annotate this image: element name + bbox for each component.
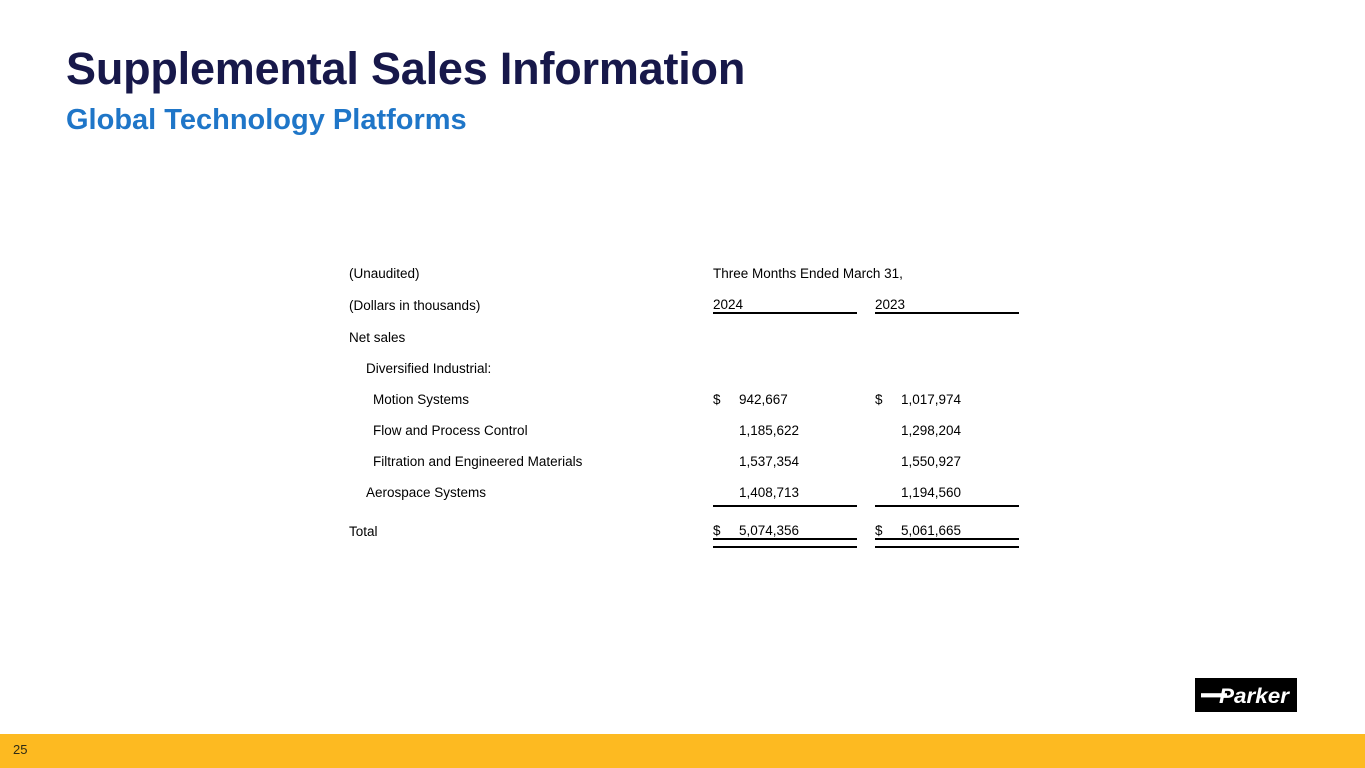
parker-wordmark-icon: Parker <box>1195 678 1297 712</box>
row-label: Motion Systems <box>349 376 713 407</box>
total-currency-symbol-2023: $ <box>875 506 901 539</box>
column-header-2024: 2024 <box>713 281 857 313</box>
note-units: (Dollars in thousands) <box>349 281 713 313</box>
supplemental-sales-table: (Unaudited) Three Months Ended March 31,… <box>349 250 1019 548</box>
period-header: Three Months Ended March 31, <box>713 250 1019 281</box>
title-block: Supplemental Sales Information Global Te… <box>66 42 1066 138</box>
column-gap <box>857 469 875 500</box>
slide-canvas: Supplemental Sales Information Global Te… <box>0 0 1365 768</box>
column-gap <box>857 376 875 407</box>
currency-symbol-2024 <box>713 407 739 438</box>
column-header-2023: 2023 <box>875 281 1019 313</box>
value-2023: 1,550,927 <box>901 438 1019 469</box>
total-value-2023: 5,061,665 <box>901 506 1019 539</box>
value-2024: 1,537,354 <box>739 438 857 469</box>
value-2024: 942,667 <box>739 376 857 407</box>
table-row-total: Total $ 5,074,356 $ 5,061,665 <box>349 506 1019 539</box>
total-double-rule-2024 <box>713 539 857 547</box>
empty-cell <box>349 539 713 547</box>
group-label-diversified-industrial: Diversified Industrial: <box>349 345 713 376</box>
value-2023: 1,017,974 <box>901 376 1019 407</box>
svg-text:Parker: Parker <box>1219 685 1291 708</box>
parker-logo: Parker <box>1195 678 1297 712</box>
currency-symbol-2023 <box>875 407 901 438</box>
table-header-row-years: (Dollars in thousands) 2024 2023 <box>349 281 1019 313</box>
table-row-group: Diversified Industrial: <box>349 345 1019 376</box>
table-row: Motion Systems $ 942,667 $ 1,017,974 <box>349 376 1019 407</box>
table-row: Filtration and Engineered Materials 1,53… <box>349 438 1019 469</box>
currency-symbol-2023: $ <box>875 376 901 407</box>
currency-symbol-2023 <box>875 438 901 469</box>
value-2024: 1,185,622 <box>739 407 857 438</box>
financial-table-container: (Unaudited) Three Months Ended March 31,… <box>349 250 1019 548</box>
currency-symbol-2023 <box>875 469 901 500</box>
column-gap <box>857 281 875 313</box>
empty-cell <box>857 313 875 345</box>
empty-cell <box>713 345 739 376</box>
value-2024: 1,408,713 <box>739 469 857 500</box>
footer-bar: 25 <box>0 734 1365 768</box>
total-double-rule-row <box>349 539 1019 547</box>
section-label-net-sales: Net sales <box>349 313 713 345</box>
currency-symbol-2024 <box>713 469 739 500</box>
empty-cell <box>739 313 857 345</box>
column-gap <box>857 506 875 539</box>
empty-cell <box>739 345 857 376</box>
column-gap <box>857 438 875 469</box>
table-header-row-period: (Unaudited) Three Months Ended March 31, <box>349 250 1019 281</box>
row-label: Aerospace Systems <box>349 469 713 500</box>
value-2023: 1,194,560 <box>901 469 1019 500</box>
table-row: Flow and Process Control 1,185,622 1,298… <box>349 407 1019 438</box>
empty-cell <box>901 313 1019 345</box>
empty-cell <box>875 345 901 376</box>
row-label: Filtration and Engineered Materials <box>349 438 713 469</box>
currency-symbol-2024: $ <box>713 376 739 407</box>
value-2023: 1,298,204 <box>901 407 1019 438</box>
total-currency-symbol-2024: $ <box>713 506 739 539</box>
empty-cell <box>857 345 875 376</box>
parker-logo-inner: Parker <box>1195 678 1297 712</box>
column-gap <box>857 539 875 547</box>
empty-cell <box>901 345 1019 376</box>
empty-cell <box>713 313 739 345</box>
note-unaudited: (Unaudited) <box>349 250 713 281</box>
page-subtitle: Global Technology Platforms <box>66 102 1066 138</box>
total-label: Total <box>349 506 713 539</box>
table-row: Aerospace Systems 1,408,713 1,194,560 <box>349 469 1019 500</box>
column-gap <box>857 407 875 438</box>
empty-cell <box>875 313 901 345</box>
table-row-section: Net sales <box>349 313 1019 345</box>
page-title: Supplemental Sales Information <box>66 42 1066 96</box>
total-double-rule-2023 <box>875 539 1019 547</box>
total-value-2024: 5,074,356 <box>739 506 857 539</box>
page-number: 25 <box>13 742 27 758</box>
row-label: Flow and Process Control <box>349 407 713 438</box>
currency-symbol-2024 <box>713 438 739 469</box>
